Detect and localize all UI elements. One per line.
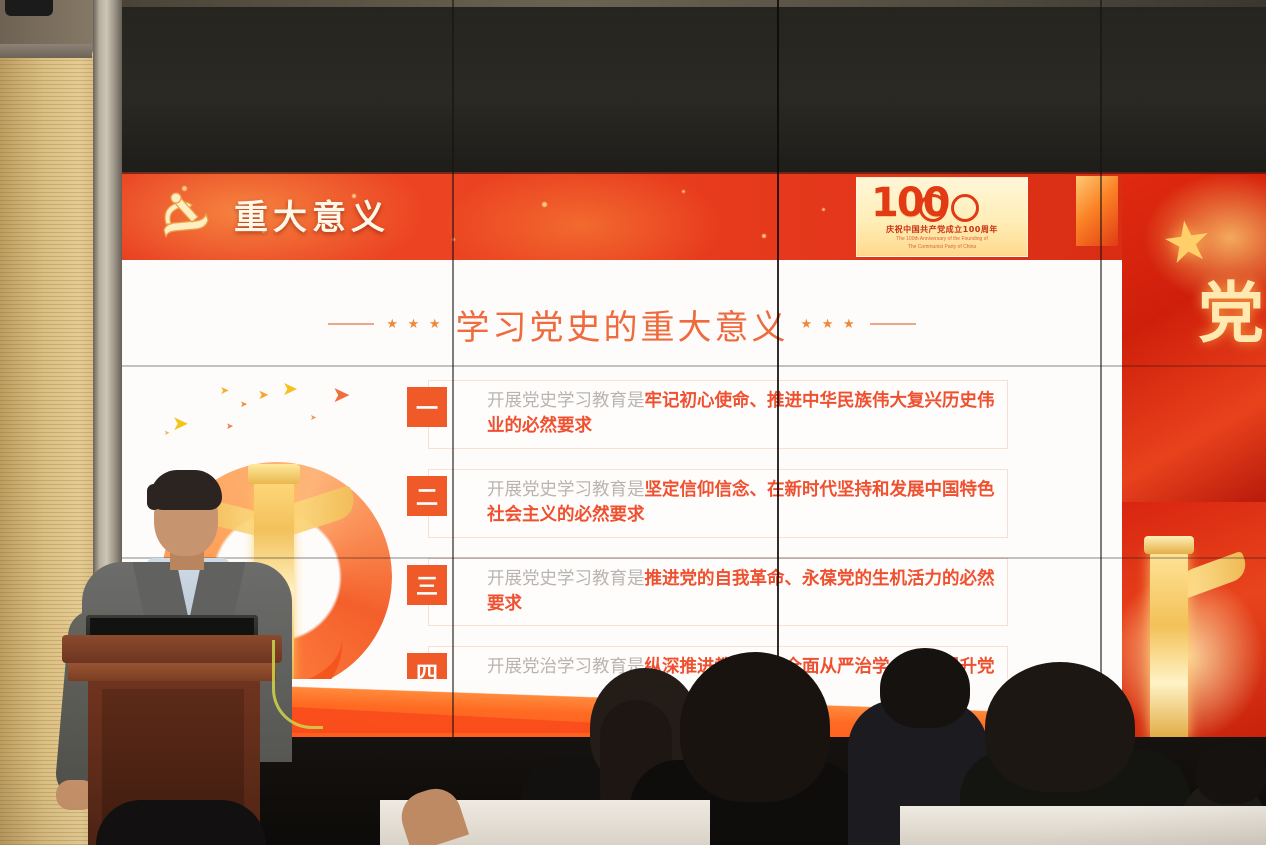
point-text: 开展党史学习教育是牢记初心使命、推进中华民族伟大复兴历史伟业的必然要求 [487, 389, 995, 440]
point-lead-text: 开展党史学习教育是 [487, 480, 645, 500]
video-wall-seam [122, 365, 1266, 367]
video-wall-seam [1100, 0, 1102, 760]
slide-header-title: 重大意义 [234, 190, 390, 239]
title-stars-left: ★ ★ ★ [386, 316, 443, 332]
wall-panel-flag-star: ★ 党 [1122, 172, 1266, 502]
audience-member-head [985, 662, 1135, 792]
video-wall-seam [452, 0, 454, 760]
audience-member [96, 800, 266, 845]
podium-top [62, 635, 282, 663]
ceiling-light-fixture [5, 0, 53, 16]
speaker-hair [150, 470, 222, 510]
point-number-badge: 二 [407, 476, 447, 516]
point-number-badge: 一 [407, 387, 447, 427]
slide-header-band: 重大意义 100 庆祝中国共产党成立100周年 The 100th Annive… [122, 172, 1122, 260]
ornamental-column-cap [1144, 536, 1194, 554]
video-wall-dark-area [122, 0, 1266, 172]
point-lead-text: 开展党史学习教育是 [487, 569, 645, 589]
video-wall-seam [122, 172, 1266, 174]
audience-table [900, 806, 1266, 845]
wall-vent [0, 44, 92, 58]
audience-member-head [680, 652, 830, 802]
red-flag-icon [1076, 176, 1118, 246]
point-text: 开展党史学习教育是推进党的自我革命、永葆党的生机活力的必然要求 [487, 567, 995, 618]
list-item: 三 开展党史学习教育是推进党的自我革命、永葆党的生机活力的必然要求 [428, 558, 1008, 627]
list-item: 二 开展党史学习教育是坚定信仰信念、在新时代坚持和发展中国特色社会主义的必然要求 [428, 469, 1008, 538]
title-rule-right [870, 323, 916, 325]
point-number-badge: 三 [407, 565, 447, 605]
audience-member-head [880, 648, 970, 728]
point-text: 开展党史学习教育是坚定信仰信念、在新时代坚持和发展中国特色社会主义的必然要求 [487, 478, 995, 529]
presentation-scene: 重大意义 100 庆祝中国共产党成立100周年 The 100th Annive… [0, 0, 1266, 845]
partial-character-dang: 党 [1198, 260, 1264, 356]
hammer-sickle-icon [152, 190, 214, 242]
list-item: 一 开展党史学习教育是牢记初心使命、推进中华民族伟大复兴历史伟业的必然要求 [428, 380, 1008, 449]
audience-member-head [1196, 742, 1266, 804]
anniversary-badge: 100 庆祝中国共产党成立100周年 The 100th Anniversary… [856, 177, 1028, 257]
slide-title-row: ★ ★ ★ 学习党史的重大意义 ★ ★ ★ [122, 300, 1122, 348]
ornamental-column-icon [1150, 550, 1188, 740]
flying-birds-icon: ➤ ➤ ➤ ➤ ➤ ➤ ➤ ➤ ➤ [162, 370, 392, 460]
podium-lip [68, 661, 276, 681]
slide-title: 学习党史的重大意义 [456, 300, 789, 349]
badge-chinese-text: 庆祝中国共产党成立100周年 [857, 224, 1027, 235]
badge-english-line1: The 100th Anniversary of the Founding of [857, 236, 1027, 244]
badge-english-line2: The Communist Party of China [857, 244, 1027, 252]
point-lead-text: 开展党史学习教育是 [487, 391, 645, 411]
title-rule-left [328, 323, 374, 325]
video-wall-seam [777, 0, 779, 760]
wall-panel-column [1122, 502, 1266, 760]
title-stars-right: ★ ★ ★ [801, 316, 858, 332]
